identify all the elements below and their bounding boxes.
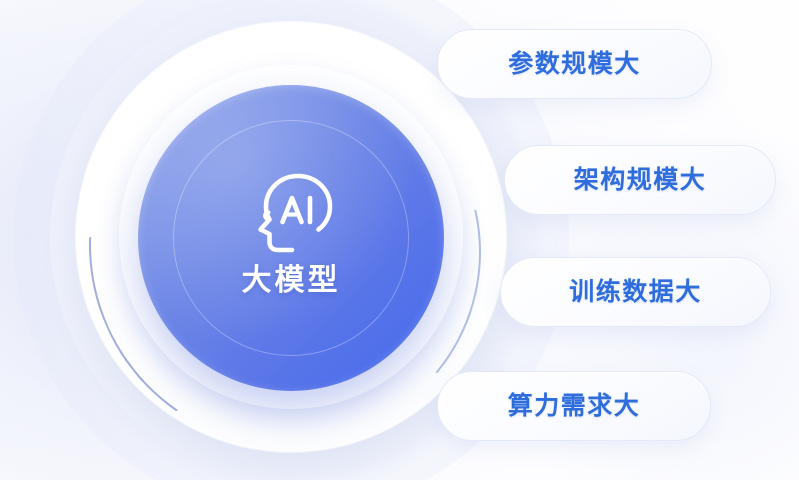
central-node[interactable]: 大模型 bbox=[138, 85, 444, 391]
feature-pill-3[interactable]: 算力需求大 bbox=[437, 371, 711, 441]
feature-pill-0[interactable]: 参数规模大 bbox=[437, 29, 712, 99]
feature-pill-2[interactable]: 训练数据大 bbox=[500, 257, 771, 327]
feature-pill-1-label: 架构规模大 bbox=[574, 168, 707, 193]
feature-pill-0-label: 参数规模大 bbox=[508, 52, 641, 77]
core-content: 大模型 bbox=[242, 172, 341, 296]
infographic-canvas: 大模型 参数规模大 架构规模大 训练数据大 算力需求大 bbox=[0, 0, 799, 480]
feature-pill-1[interactable]: 架构规模大 bbox=[504, 145, 776, 215]
ai-head-icon bbox=[248, 172, 334, 266]
central-node-label: 大模型 bbox=[242, 266, 341, 296]
feature-pill-3-label: 算力需求大 bbox=[508, 394, 641, 419]
feature-pill-2-label: 训练数据大 bbox=[569, 280, 702, 305]
